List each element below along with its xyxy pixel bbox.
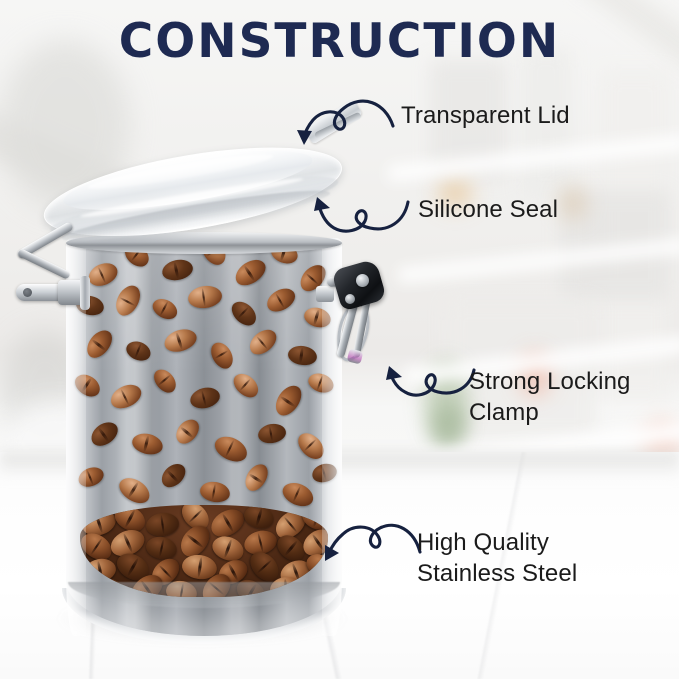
callout-arrow-transparent-lid	[288, 92, 398, 154]
coffee-bean	[229, 369, 263, 402]
coffee-bean	[124, 338, 154, 364]
callout-arrow-silicone-seal	[300, 182, 412, 244]
coffee-bean	[150, 365, 181, 396]
coffee-bean	[87, 417, 122, 450]
coffee-bean	[263, 284, 299, 316]
callout-arrow-locking-clamp	[382, 348, 478, 406]
coffee-bean	[107, 380, 145, 413]
coffee-bean	[245, 325, 281, 360]
coffee-bean	[130, 431, 165, 458]
coffee-bean	[172, 415, 204, 448]
coffee-bean	[227, 297, 260, 330]
coffee-bean	[211, 432, 251, 467]
background-plant-blob	[432, 404, 466, 448]
callout-label-transparent-lid: Transparent Lid	[401, 100, 570, 131]
coffee-bean	[187, 284, 224, 311]
coffee-bean	[145, 511, 181, 538]
page-title: CONSTRUCTION	[0, 18, 679, 65]
clamp-rivet	[345, 294, 355, 304]
coffee-bean	[157, 459, 190, 491]
coffee-bean	[162, 325, 200, 355]
callout-label-locking-clamp: Strong Locking Clamp	[469, 366, 631, 428]
coffee-bean	[115, 473, 154, 508]
coffee-bean	[149, 295, 180, 323]
callout-label-stainless-steel: High Quality Stainless Steel	[417, 527, 577, 589]
coffee-bean	[144, 534, 179, 562]
callout-arrow-stainless-steel	[316, 512, 424, 572]
background-blur-blob	[560, 186, 586, 220]
hinge-hole	[23, 288, 32, 297]
coffee-bean	[241, 460, 272, 495]
coffee-bean	[82, 326, 117, 363]
coffee-bean	[160, 257, 194, 283]
callout-label-silicone-seal: Silicone Seal	[418, 194, 558, 225]
coffee-bean	[188, 385, 222, 412]
clamp-bracket	[316, 286, 334, 302]
clamp-rivet	[356, 274, 369, 287]
coffee-bean	[111, 281, 145, 319]
coffee-bean	[198, 480, 231, 505]
coffee-bean	[271, 381, 307, 420]
coffee-bean	[231, 255, 270, 291]
coffee-bean	[257, 422, 288, 446]
hinge-post	[80, 276, 90, 310]
coffee-bean	[242, 505, 277, 532]
coffee-bean	[287, 344, 318, 367]
coffee-bean	[207, 339, 237, 373]
infographic-canvas: CONSTRUCTION	[0, 0, 679, 679]
